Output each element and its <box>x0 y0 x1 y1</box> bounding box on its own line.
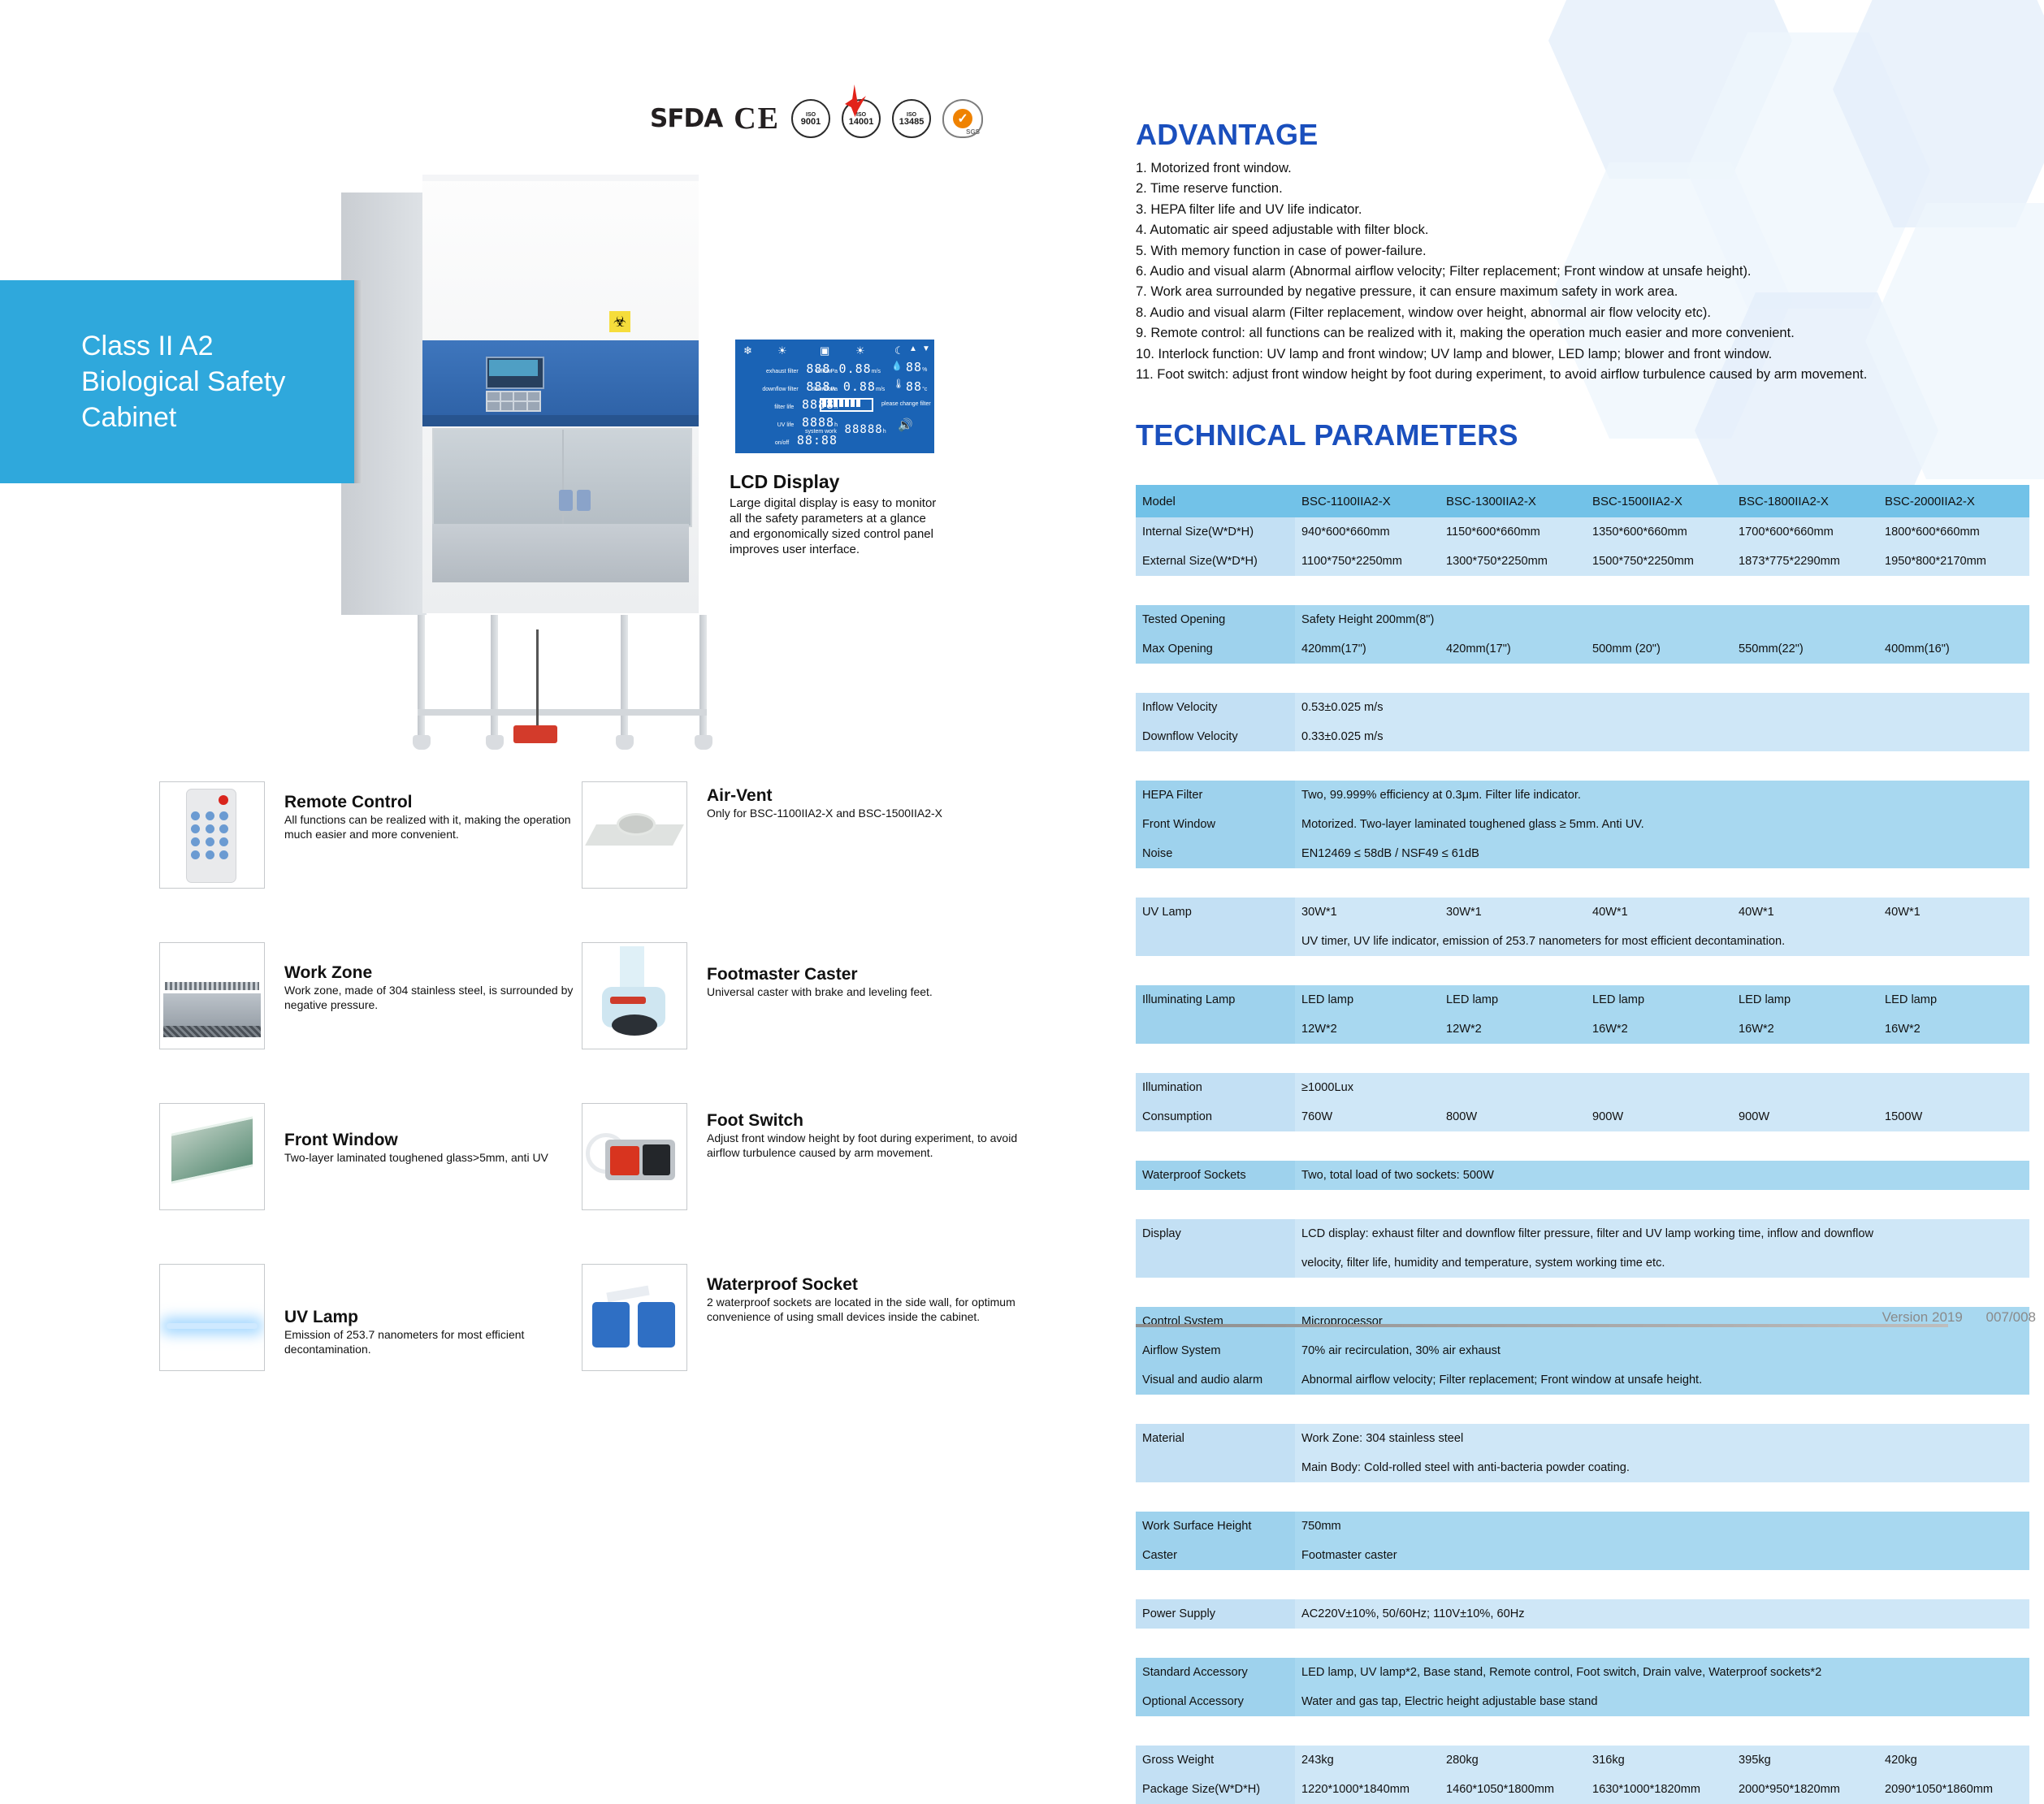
table-row-label: Max Opening <box>1136 634 1295 664</box>
foot-switch-thumb-icon <box>582 1103 687 1210</box>
table-cell: 1100*750*2250mm <box>1295 547 1440 576</box>
table-cell: Main Body: Cold-rolled steel with anti-b… <box>1295 1453 2029 1482</box>
table-row-label <box>1136 1453 1295 1482</box>
lcd-label-downflow: downflow <box>812 387 835 392</box>
table-row-label: Power Supply <box>1136 1599 1295 1629</box>
table-cell: 940*600*660mm <box>1295 517 1440 547</box>
remote-control-thumb-icon <box>159 781 265 889</box>
table-row: Waterproof SocketsTwo, total load of two… <box>1136 1161 2029 1190</box>
table-band-spacer <box>1136 1190 2029 1219</box>
table-cell: UV timer, UV life indicator, emission of… <box>1295 927 2029 956</box>
arrow-down-icon: ▼ <box>922 344 930 353</box>
table-cell: LCD display: exhaust filter and downflow… <box>1295 1219 2029 1248</box>
feature-body: All functions can be realized with it, m… <box>284 813 601 841</box>
advantage-item: 11. Foot switch: adjust front window hei… <box>1136 365 2033 385</box>
table-cell: 30W*1 <box>1440 898 1586 927</box>
advantage-item: 10. Interlock function: UV lamp and fron… <box>1136 344 2033 365</box>
foot-switch-pedal <box>513 725 557 743</box>
table-row-label: Noise <box>1136 839 1295 868</box>
title-banner: Class II A2 Biological Safety Cabinet <box>0 280 356 483</box>
table-row: Illuminating LampLED lampLED lampLED lam… <box>1136 985 2029 1014</box>
table-band-spacer <box>1136 1044 2029 1073</box>
fan-icon: ❄ <box>743 344 752 357</box>
table-row: DisplayLCD display: exhaust filter and d… <box>1136 1219 2029 1248</box>
feature-title: UV Lamp <box>284 1308 601 1327</box>
table-row-label: Optional Accessory <box>1136 1687 1295 1716</box>
table-band-spacer <box>1136 1482 2029 1512</box>
table-row: Internal Size(W*D*H)940*600*660mm1150*60… <box>1136 517 2029 547</box>
lcd-unit-system-work: h <box>883 429 886 435</box>
cabinet-top <box>422 175 699 181</box>
table-cell: 40W*1 <box>1878 898 2029 927</box>
table-cell: 316kg <box>1586 1746 1732 1775</box>
lcd-label-system-work: system work <box>805 429 837 435</box>
table-cell: ≥1000Lux <box>1295 1073 2029 1102</box>
check-icon: ✓ <box>953 109 972 128</box>
feature-item-waterproof-socket: Waterproof Socket 2 waterproof sockets a… <box>582 1264 1037 1394</box>
table-cell: 1150*600*660mm <box>1440 517 1586 547</box>
table-row: Inflow Velocity0.53±0.025 m/s <box>1136 693 2029 722</box>
table-row-label: Work Surface Height <box>1136 1512 1295 1541</box>
table-row: 12W*212W*216W*216W*216W*2 <box>1136 1014 2029 1044</box>
table-cell: 1630*1000*1820mm <box>1586 1775 1732 1804</box>
product-photo: ☣ <box>341 175 731 792</box>
table-cell: Footmaster caster <box>1295 1541 2029 1570</box>
table-cell: LED lamp <box>1440 985 1586 1014</box>
footmaster-caster-thumb-icon <box>582 942 687 1049</box>
feature-body: Adjust front window height by foot durin… <box>707 1131 1024 1160</box>
table-band-spacer <box>1136 1716 2029 1746</box>
advantage-item: 8. Audio and visual alarm (Filter replac… <box>1136 303 2033 323</box>
table-band-spacer <box>1136 1131 2029 1161</box>
table-row-label: UV Lamp <box>1136 898 1295 927</box>
table-row: HEPA FilterTwo, 99.999% efficiency at 0.… <box>1136 781 2029 810</box>
lcd-display-graphic: ❄ ☀ ▣ ☀ ☾ ▲ ▼ exhaust filter 888Pa downf… <box>735 340 934 453</box>
table-cell: 30W*1 <box>1295 898 1440 927</box>
table-row: Max Opening420mm(17")420mm(17")500mm (20… <box>1136 634 2029 664</box>
table-cell: 1220*1000*1840mm <box>1295 1775 1440 1804</box>
table-cell: 0.53±0.025 m/s <box>1295 693 2029 722</box>
advantage-item: 9. Remote control: all functions can be … <box>1136 323 2033 344</box>
table-band-spacer <box>1136 1629 2029 1658</box>
table-row: Illumination≥1000Lux <box>1136 1073 2029 1102</box>
front-window-thumb-icon <box>159 1103 265 1210</box>
table-header-cell: BSC-1300IIA2-X <box>1440 485 1586 517</box>
advantage-item: 2. Time reserve function. <box>1136 179 2033 199</box>
table-row-label: Internal Size(W*D*H) <box>1136 517 1295 547</box>
table-row: Downflow Velocity0.33±0.025 m/s <box>1136 722 2029 751</box>
table-row-label: Consumption <box>1136 1102 1295 1131</box>
specifications-table: ModelBSC-1100IIA2-XBSC-1300IIA2-XBSC-150… <box>1136 485 2029 1804</box>
thermometer-icon: 🌡 <box>893 379 904 389</box>
table-cell: 1500*750*2250mm <box>1586 547 1732 576</box>
certification-logos: SFDA CE ISO 9001 ISO 14001 ISO 13485 ✓ S… <box>650 99 983 138</box>
table-cell: 800W <box>1440 1102 1586 1131</box>
table-cell: 1700*600*660mm <box>1732 517 1878 547</box>
table-cell: LED lamp <box>1878 985 2029 1014</box>
feature-body: Only for BSC-1100IIA2-X and BSC-1500IIA2… <box>707 807 1024 821</box>
table-cell: 1800*600*660mm <box>1878 517 2029 547</box>
feature-title: Front Window <box>284 1131 601 1150</box>
sfda-logo-icon: SFDA <box>650 104 722 133</box>
table-header-cell: BSC-1800IIA2-X <box>1732 485 1878 517</box>
table-row: Package Size(W*D*H)1220*1000*1840mm1460*… <box>1136 1775 2029 1804</box>
table-cell: 2090*1050*1860mm <box>1878 1775 2029 1804</box>
feature-title: Waterproof Socket <box>707 1275 1024 1295</box>
table-cell: 12W*2 <box>1295 1014 1440 1044</box>
table-row-label: Tested Opening <box>1136 605 1295 634</box>
table-band-spacer <box>1136 1395 2029 1424</box>
lcd-caption-body: Large digital display is easy to monitor… <box>730 495 949 557</box>
light-icon: ☀ <box>777 344 787 357</box>
advantage-item: 3. HEPA filter life and UV life indicato… <box>1136 200 2033 220</box>
waterproof-socket-thumb-icon <box>582 1264 687 1371</box>
feature-title: Foot Switch <box>707 1111 1024 1131</box>
table-row-label: Material <box>1136 1424 1295 1453</box>
lcd-unit-humidity: % <box>922 367 927 373</box>
table-cell: 40W*1 <box>1586 898 1732 927</box>
cabinet-band-edge <box>422 415 699 426</box>
feature-body: Work zone, made of 304 stainless steel, … <box>284 984 601 1012</box>
table-cell: 16W*2 <box>1732 1014 1878 1044</box>
advantage-item: 7. Work area surrounded by negative pres… <box>1136 282 2033 302</box>
advantage-section-title: ADVANTAGE <box>1136 118 1318 152</box>
work-zone-thumb-icon <box>159 942 265 1049</box>
table-cell: AC220V±10%, 50/60Hz; 110V±10%, 60Hz <box>1295 1599 2029 1629</box>
socket-icon: ▣ <box>820 344 829 357</box>
table-cell: 1460*1050*1800mm <box>1440 1775 1586 1804</box>
table-row-label <box>1136 927 1295 956</box>
table-row-label: HEPA Filter <box>1136 781 1295 810</box>
table-row-label: Display <box>1136 1219 1295 1248</box>
footer-page: 007/008 <box>1986 1309 2036 1325</box>
table-row-label: Visual and audio alarm <box>1136 1365 1295 1395</box>
front-window-glass <box>432 428 692 527</box>
lcd-label-uv-life: UV life <box>777 422 795 428</box>
cabinet-base-stand <box>418 615 707 745</box>
table-cell: 395kg <box>1732 1746 1878 1775</box>
table-cell: 420kg <box>1878 1746 2029 1775</box>
table-row-label: External Size(W*D*H) <box>1136 547 1295 576</box>
lcd-unit-temperature: °c <box>922 387 927 392</box>
table-cell: 500mm (20") <box>1586 634 1732 664</box>
table-cell: 400mm(16") <box>1878 634 2029 664</box>
table-header-cell: BSC-1500IIA2-X <box>1586 485 1732 517</box>
feature-item-remote-control: Remote Control All functions can be real… <box>159 781 614 911</box>
table-cell: 1300*750*2250mm <box>1440 547 1586 576</box>
feature-body: Universal caster with brake and leveling… <box>707 985 1024 1000</box>
table-cell: Work Zone: 304 stainless steel <box>1295 1424 2029 1453</box>
ce-logo-icon: CE <box>734 101 780 136</box>
cabinet-control-band <box>422 340 699 415</box>
table-cell: 1500W <box>1878 1102 2029 1131</box>
title-line-1: Class II A2 <box>81 331 214 361</box>
advantage-list: 1. Motorized front window.2. Time reserv… <box>1136 158 2033 385</box>
left-panel: SFDA CE ISO 9001 ISO 14001 ISO 13485 ✓ S… <box>0 0 1105 1396</box>
buzzer-icon: 🔊 <box>898 417 913 432</box>
table-cell: Safety Height 200mm(8") <box>1295 605 2029 634</box>
table-cell: 1350*600*660mm <box>1586 517 1732 547</box>
table-cell: 16W*2 <box>1878 1014 2029 1044</box>
table-row-label: Downflow Velocity <box>1136 722 1295 751</box>
table-cell: 2000*950*1820mm <box>1732 1775 1878 1804</box>
table-cell: LED lamp <box>1732 985 1878 1014</box>
technical-parameters-title: TECHNICAL PARAMETERS <box>1136 418 1518 452</box>
control-panel-keypad <box>486 391 541 412</box>
table-cell: LED lamp, UV lamp*2, Base stand, Remote … <box>1295 1658 2029 1687</box>
feature-body: Two-layer laminated toughened glass>5mm,… <box>284 1151 601 1166</box>
feature-item-front-window: Front Window Two-layer laminated toughen… <box>159 1103 614 1233</box>
table-cell: Motorized. Two-layer laminated toughened… <box>1295 810 2029 839</box>
table-row-label: Illumination <box>1136 1073 1295 1102</box>
feature-item-air-vent: Air-Vent Only for BSC-1100IIA2-X and BSC… <box>582 781 1037 911</box>
table-row: MaterialWork Zone: 304 stainless steel <box>1136 1424 2029 1453</box>
table-cell: velocity, filter life, humidity and temp… <box>1295 1248 2029 1278</box>
banner-edge <box>354 280 362 483</box>
table-cell: 0.33±0.025 m/s <box>1295 722 2029 751</box>
table-cell: 1873*775*2290mm <box>1732 547 1878 576</box>
right-panel: ADVANTAGE 1. Motorized front window.2. T… <box>1136 0 2044 1396</box>
table-cell: 420mm(17") <box>1440 634 1586 664</box>
table-row-label: Gross Weight <box>1136 1746 1295 1775</box>
table-band-spacer <box>1136 1570 2029 1599</box>
arrow-up-icon: ▲ <box>909 344 917 353</box>
table-cell: 550mm(22") <box>1732 634 1878 664</box>
table-row: Tested OpeningSafety Height 200mm(8") <box>1136 605 2029 634</box>
table-cell: Two, 99.999% efficiency at 0.3μm. Filter… <box>1295 781 2029 810</box>
table-cell: LED lamp <box>1586 985 1732 1014</box>
foot-switch-cable <box>536 629 539 729</box>
footer: Version 2019 007/008 <box>1863 1309 2036 1326</box>
lcd-value-system-work: 88888 <box>845 423 883 436</box>
table-row: External Size(W*D*H)1100*750*2250mm1300*… <box>1136 547 2029 576</box>
lcd-label-on-off: on/off <box>775 440 789 446</box>
title-line-2: Biological Safety <box>81 366 285 397</box>
table-cell: 40W*1 <box>1732 898 1878 927</box>
table-row-label: Caster <box>1136 1541 1295 1570</box>
footer-divider <box>1136 1324 1948 1327</box>
table-cell: Water and gas tap, Electric height adjus… <box>1295 1687 2029 1716</box>
table-cell: 70% air recirculation, 30% air exhaust <box>1295 1336 2029 1365</box>
table-row: Work Surface Height750mm <box>1136 1512 2029 1541</box>
table-row-label: Waterproof Sockets <box>1136 1161 1295 1190</box>
lcd-unit-downflow: m/s <box>876 387 885 392</box>
table-row-label <box>1136 1014 1295 1044</box>
table-row: Power SupplyAC220V±10%, 50/60Hz; 110V±10… <box>1136 1599 2029 1629</box>
lcd-label-exhaust-filter: exhaust filter <box>766 369 799 374</box>
table-cell: 900W <box>1732 1102 1878 1131</box>
lcd-value-temperature: 88 <box>906 379 922 394</box>
table-row: CasterFootmaster caster <box>1136 1541 2029 1570</box>
table-header-cell: BSC-2000IIA2-X <box>1878 485 2029 517</box>
table-row-label: Standard Accessory <box>1136 1658 1295 1687</box>
feature-body: 2 waterproof sockets are located in the … <box>707 1296 1024 1324</box>
feature-title: Remote Control <box>284 793 601 812</box>
advantage-item: 4. Automatic air speed adjustable with f… <box>1136 220 2033 240</box>
uv-light-icon: ☀ <box>855 344 865 357</box>
table-header-cell: Model <box>1136 485 1295 517</box>
footer-version: Version 2019 <box>1882 1309 1963 1325</box>
advantage-item: 1. Motorized front window. <box>1136 158 2033 179</box>
lcd-caption: LCD Display Large digital display is eas… <box>730 471 949 557</box>
table-band-spacer <box>1136 576 2029 605</box>
cabinet-work-zone <box>432 524 689 582</box>
table-band-spacer <box>1136 956 2029 985</box>
table-band-spacer <box>1136 664 2029 693</box>
table-band-spacer <box>1136 1278 2029 1307</box>
feature-item-foot-switch: Foot Switch Adjust front window height b… <box>582 1103 1037 1233</box>
table-row-label: Inflow Velocity <box>1136 693 1295 722</box>
iso-9001-logo-icon: ISO 9001 <box>791 99 830 138</box>
table-row: velocity, filter life, humidity and temp… <box>1136 1248 2029 1278</box>
table-cell: Abnormal airflow velocity; Filter replac… <box>1295 1365 2029 1395</box>
table-cell: 12W*2 <box>1440 1014 1586 1044</box>
table-row-label: Control System <box>1136 1307 1295 1336</box>
lcd-unit-inflow: m/s <box>872 369 881 374</box>
lcd-label-filter-life: filter life <box>774 404 794 410</box>
table-cell: 760W <box>1295 1102 1440 1131</box>
table-row: Airflow System70% air recirculation, 30%… <box>1136 1336 2029 1365</box>
table-row: Consumption760W800W900W900W1500W <box>1136 1102 2029 1131</box>
feature-title: Air-Vent <box>707 786 1024 806</box>
table-row: NoiseEN12469 ≤ 58dB / NSF49 ≤ 61dB <box>1136 839 2029 868</box>
lcd-label-inflow: inflow <box>816 369 831 374</box>
table-row: Visual and audio alarmAbnormal airflow v… <box>1136 1365 2029 1395</box>
title-line-3: Cabinet <box>81 402 176 433</box>
table-row: Front WindowMotorized. Two-layer laminat… <box>1136 810 2029 839</box>
feature-item-work-zone: Work Zone Work zone, made of 304 stainle… <box>159 942 614 1072</box>
sgs-logo-icon: ✓ SGS <box>942 99 983 138</box>
table-row-label: Front Window <box>1136 810 1295 839</box>
table-cell: LED lamp <box>1295 985 1440 1014</box>
lcd-label-downflow-filter: downflow filter <box>762 387 798 392</box>
table-row: Gross Weight243kg280kg316kg395kg420kg <box>1136 1746 2029 1775</box>
feature-item-uv-lamp: UV Lamp Emission of 253.7 nanometers for… <box>159 1264 614 1394</box>
table-cell: 900W <box>1586 1102 1732 1131</box>
table-cell: Two, total load of two sockets: 500W <box>1295 1161 2029 1190</box>
control-panel-screen <box>489 360 538 376</box>
table-row-label <box>1136 1248 1295 1278</box>
table-cell: 243kg <box>1295 1746 1440 1775</box>
feature-item-footmaster-caster: Footmaster Caster Universal caster with … <box>582 942 1037 1072</box>
lcd-caption-title: LCD Display <box>730 471 949 493</box>
lcd-value-inflow: 0.88 <box>839 361 872 376</box>
moon-icon: ☾ <box>894 344 904 357</box>
table-cell: 420mm(17") <box>1295 634 1440 664</box>
table-header-row: ModelBSC-1100IIA2-XBSC-1300IIA2-XBSC-150… <box>1136 485 2029 517</box>
advantage-item: 6. Audio and visual alarm (Abnormal airf… <box>1136 262 2033 282</box>
table-band-spacer <box>1136 751 2029 781</box>
table-row-label: Illuminating Lamp <box>1136 985 1295 1014</box>
iso-13485-logo-icon: ISO 13485 <box>892 99 931 138</box>
lcd-value-humidity: 88 <box>906 360 922 374</box>
table-row: Standard AccessoryLED lamp, UV lamp*2, B… <box>1136 1658 2029 1687</box>
table-cell: 280kg <box>1440 1746 1586 1775</box>
table-row-label: Airflow System <box>1136 1336 1295 1365</box>
table-row: Optional AccessoryWater and gas tap, Ele… <box>1136 1687 2029 1716</box>
table-row: UV timer, UV life indicator, emission of… <box>1136 927 2029 956</box>
table-cell: 750mm <box>1295 1512 2029 1541</box>
feature-column-right: Air-Vent Only for BSC-1100IIA2-X and BSC… <box>582 781 1037 1425</box>
feature-title: Footmaster Caster <box>707 965 1024 984</box>
table-row-label: Package Size(W*D*H) <box>1136 1775 1295 1804</box>
lcd-value-downflow: 0.88 <box>843 379 876 394</box>
uv-lamp-thumb-icon <box>159 1264 265 1371</box>
table-band-spacer <box>1136 868 2029 898</box>
table-row: UV Lamp30W*130W*140W*140W*140W*1 <box>1136 898 2029 927</box>
table-row: Main Body: Cold-rolled steel with anti-b… <box>1136 1453 2029 1482</box>
page-title: Class II A2 Biological Safety Cabinet <box>81 328 285 435</box>
air-vent-thumb-icon <box>582 781 687 889</box>
table-cell: 1950*800*2170mm <box>1878 547 2029 576</box>
filter-status-bar <box>820 398 873 412</box>
lcd-alert-text: please change filter <box>881 401 931 407</box>
biohazard-icon: ☣ <box>609 311 630 332</box>
humidity-icon: 💧 <box>891 361 903 371</box>
table-cell: EN12469 ≤ 58dB / NSF49 ≤ 61dB <box>1295 839 2029 868</box>
table-cell: 16W*2 <box>1586 1014 1732 1044</box>
advantage-item: 5. With memory function in case of power… <box>1136 241 2033 262</box>
cabinet-sockets <box>559 490 591 511</box>
table-header-cell: BSC-1100IIA2-X <box>1295 485 1440 517</box>
feature-body: Emission of 253.7 nanometers for most ef… <box>284 1328 601 1356</box>
feature-column-left: Remote Control All functions can be real… <box>159 781 614 1425</box>
feature-title: Work Zone <box>284 963 601 983</box>
